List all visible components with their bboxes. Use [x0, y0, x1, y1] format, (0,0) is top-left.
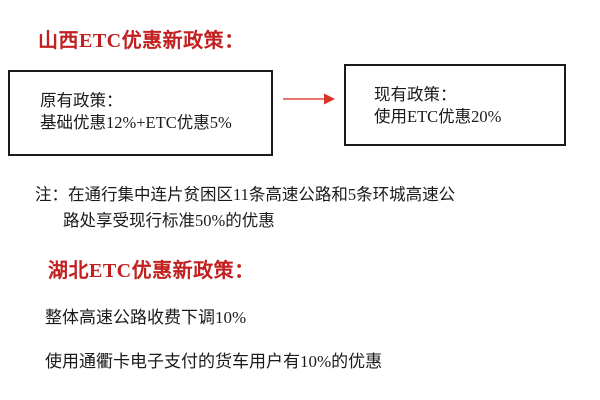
new-policy-line-1: 现有政策：: [374, 84, 501, 106]
section-heading-shanxi: 山西ETC优惠新政策：: [38, 24, 245, 53]
section-heading-hubei: 湖北ETC优惠新政策：: [48, 254, 255, 283]
hubei-item-1: 整体高速公路收费下调10%: [45, 303, 246, 328]
slide-canvas: 山西ETC优惠新政策： 原有政策： 基础优惠12%+ETC优惠5% 现有政策： …: [0, 0, 600, 400]
old-policy-line-2: 基础优惠12%+ETC优惠5%: [40, 112, 232, 134]
note-line-2: 路处享受现行标准50%的优惠: [35, 208, 580, 234]
new-policy-box: 现有政策： 使用ETC优惠20%: [344, 64, 566, 146]
arrow-right-svg: [283, 90, 335, 108]
shanxi-note: 注：在通行集中连片贫困区11条高速公路和5条环城高速公 路处享受现行标准50%的…: [35, 182, 580, 234]
old-policy-box: 原有政策： 基础优惠12%+ETC优惠5%: [8, 70, 273, 156]
new-policy-line-2: 使用ETC优惠20%: [374, 106, 501, 128]
old-policy-text: 原有政策： 基础优惠12%+ETC优惠5%: [40, 90, 232, 134]
arrow-right-icon: [283, 90, 335, 108]
hubei-item-2: 使用通衢卡电子支付的货车用户有10%的优惠: [45, 347, 382, 372]
note-line-1: 注：在通行集中连片贫困区11条高速公路和5条环城高速公: [35, 182, 580, 208]
old-policy-line-1: 原有政策：: [40, 90, 232, 112]
new-policy-text: 现有政策： 使用ETC优惠20%: [374, 84, 501, 128]
